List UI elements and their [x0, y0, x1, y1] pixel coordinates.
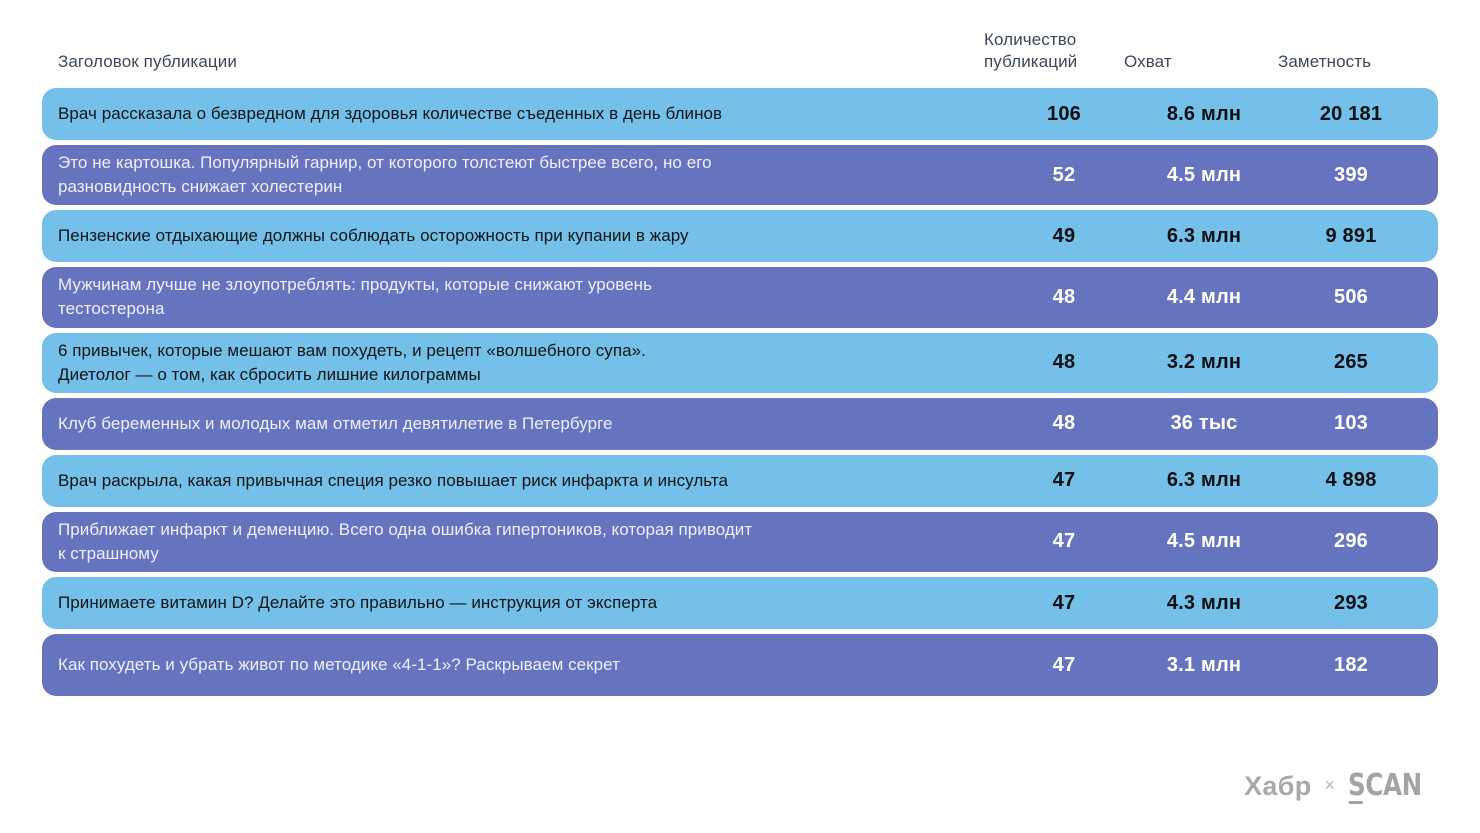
publication-visibility: 506	[1278, 286, 1438, 309]
publication-count: 106	[998, 103, 1130, 126]
column-header-count: Количество публикаций	[984, 29, 1116, 74]
publication-visibility: 9 891	[1278, 225, 1438, 248]
table-row[interactable]: Как похудеть и убрать живот по методике …	[42, 634, 1438, 696]
publication-visibility: 399	[1278, 164, 1438, 187]
publication-reach: 4.3 млн	[1130, 592, 1278, 615]
publication-count: 52	[998, 164, 1130, 187]
scan-logo-text: SCAN	[1348, 768, 1422, 803]
table-row[interactable]: Приближает инфаркт и деменцию. Всего одн…	[42, 512, 1438, 572]
publication-visibility: 20 181	[1278, 103, 1438, 126]
table-header: Заголовок публикации Количество публикац…	[42, 0, 1438, 88]
cross-separator-icon: ×	[1325, 776, 1336, 796]
publication-visibility: 103	[1278, 412, 1438, 435]
publication-title: Клуб беременных и молодых мам отметил де…	[42, 412, 998, 436]
table-row[interactable]: Принимаете витамин D? Делайте это правил…	[42, 577, 1438, 629]
table-row[interactable]: Это не картошка. Популярный гарнир, от к…	[42, 145, 1438, 205]
publication-count: 47	[998, 530, 1130, 553]
publication-title: Приближает инфаркт и деменцию. Всего одн…	[42, 518, 998, 566]
habr-logo: Хабр	[1244, 773, 1311, 800]
column-header-title: Заголовок публикации	[42, 51, 984, 74]
column-header-reach: Охват	[1116, 51, 1272, 74]
publication-count: 48	[998, 351, 1130, 374]
publication-count: 49	[998, 225, 1130, 248]
table-row[interactable]: 6 привычек, которые мешают вам похудеть,…	[42, 333, 1438, 393]
publication-count: 47	[998, 592, 1130, 615]
publication-count: 48	[998, 412, 1130, 435]
column-header-visibility: Заметность	[1272, 51, 1438, 74]
publication-title: Мужчинам лучше не злоупотреблять: продук…	[42, 273, 998, 321]
scan-underline-icon	[1349, 801, 1363, 804]
publication-reach: 6.3 млн	[1130, 469, 1278, 492]
publication-title: Врач рассказала о безвредном для здоровь…	[42, 102, 998, 126]
publication-reach: 8.6 млн	[1130, 103, 1278, 126]
publication-title: Врач раскрыла, какая привычная специя ре…	[42, 469, 998, 493]
table-row[interactable]: Пензенские отдыхающие должны соблюдать о…	[42, 210, 1438, 262]
publication-reach: 6.3 млн	[1130, 225, 1278, 248]
publication-visibility: 296	[1278, 530, 1438, 553]
publication-reach: 3.1 млн	[1130, 654, 1278, 677]
publication-reach: 3.2 млн	[1130, 351, 1278, 374]
publication-reach: 4.5 млн	[1130, 164, 1278, 187]
publication-visibility: 293	[1278, 592, 1438, 615]
publication-title: Это не картошка. Популярный гарнир, от к…	[42, 151, 998, 199]
infographic-board: Заголовок публикации Количество публикац…	[0, 0, 1480, 833]
publication-title: Как похудеть и убрать живот по методике …	[42, 653, 998, 677]
publication-reach: 4.4 млн	[1130, 286, 1278, 309]
publication-reach: 4.5 млн	[1130, 530, 1278, 553]
publication-visibility: 4 898	[1278, 469, 1438, 492]
publications-table: Врач рассказала о безвредном для здоровь…	[42, 88, 1438, 696]
table-row[interactable]: Клуб беременных и молодых мам отметил де…	[42, 398, 1438, 450]
table-row[interactable]: Врач рассказала о безвредном для здоровь…	[42, 88, 1438, 140]
publication-visibility: 182	[1278, 654, 1438, 677]
publication-count: 48	[998, 286, 1130, 309]
table-row[interactable]: Врач раскрыла, какая привычная специя ре…	[42, 455, 1438, 507]
publication-title: Принимаете витамин D? Делайте это правил…	[42, 591, 998, 615]
footer-branding: Хабр × SCAN	[1244, 771, 1438, 801]
table-row[interactable]: Мужчинам лучше не злоупотреблять: продук…	[42, 267, 1438, 327]
scan-logo: SCAN	[1348, 771, 1422, 801]
publication-count: 47	[998, 654, 1130, 677]
publication-reach: 36 тыс	[1130, 412, 1278, 435]
publication-title: 6 привычек, которые мешают вам похудеть,…	[42, 339, 998, 387]
publication-title: Пензенские отдыхающие должны соблюдать о…	[42, 224, 998, 248]
publication-count: 47	[998, 469, 1130, 492]
publication-visibility: 265	[1278, 351, 1438, 374]
